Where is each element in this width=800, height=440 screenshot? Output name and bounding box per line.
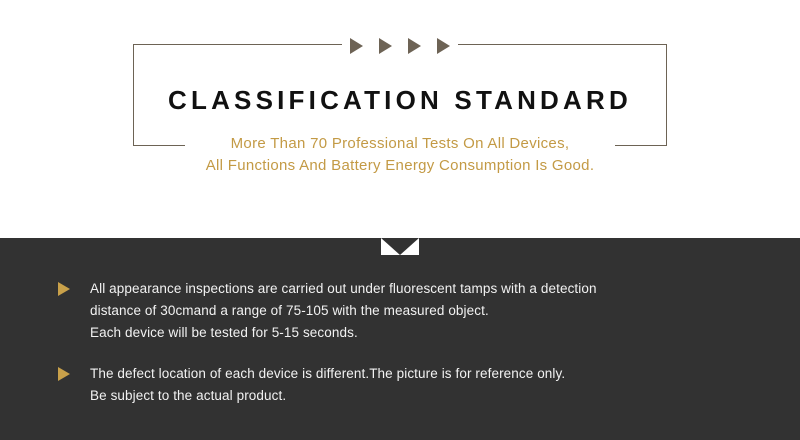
bullet-text: The defect location of each device is di… bbox=[90, 363, 758, 407]
subtitle-line-2: All Functions And Battery Energy Consump… bbox=[0, 155, 800, 177]
bracket-top-stub bbox=[615, 44, 667, 45]
play-triangle-icon bbox=[379, 38, 392, 54]
divider-rule-left bbox=[185, 44, 342, 45]
list-item: The defect location of each device is di… bbox=[58, 363, 758, 407]
list-item: All appearance inspections are carried o… bbox=[58, 278, 758, 344]
bullet-triangle-icon bbox=[58, 282, 70, 296]
bullet-line: distance of 30cmand a range of 75-105 wi… bbox=[90, 300, 758, 322]
play-triangle-icon bbox=[408, 38, 421, 54]
bullet-line: Each device will be tested for 5-15 seco… bbox=[90, 322, 758, 344]
divider-rule-right bbox=[458, 44, 615, 45]
page-title: CLASSIFICATION STANDARD bbox=[0, 83, 800, 117]
bullet-line: The defect location of each device is di… bbox=[90, 363, 758, 385]
bracket-top-stub bbox=[133, 44, 185, 45]
page-subtitle: More Than 70 Professional Tests On All D… bbox=[0, 133, 800, 177]
bullet-line: All appearance inspections are carried o… bbox=[90, 278, 758, 300]
arrow-cluster bbox=[350, 38, 450, 54]
callout-notch bbox=[381, 238, 419, 255]
bullet-triangle-icon bbox=[58, 367, 70, 381]
promo-banner: CLASSIFICATION STANDARD More Than 70 Pro… bbox=[0, 0, 800, 440]
header-section: CLASSIFICATION STANDARD More Than 70 Pro… bbox=[0, 0, 800, 238]
play-triangle-icon bbox=[437, 38, 450, 54]
bullet-text: All appearance inspections are carried o… bbox=[90, 278, 758, 344]
play-triangle-icon bbox=[350, 38, 363, 54]
bullet-line: Be subject to the actual product. bbox=[90, 385, 758, 407]
subtitle-line-1: More Than 70 Professional Tests On All D… bbox=[0, 133, 800, 155]
